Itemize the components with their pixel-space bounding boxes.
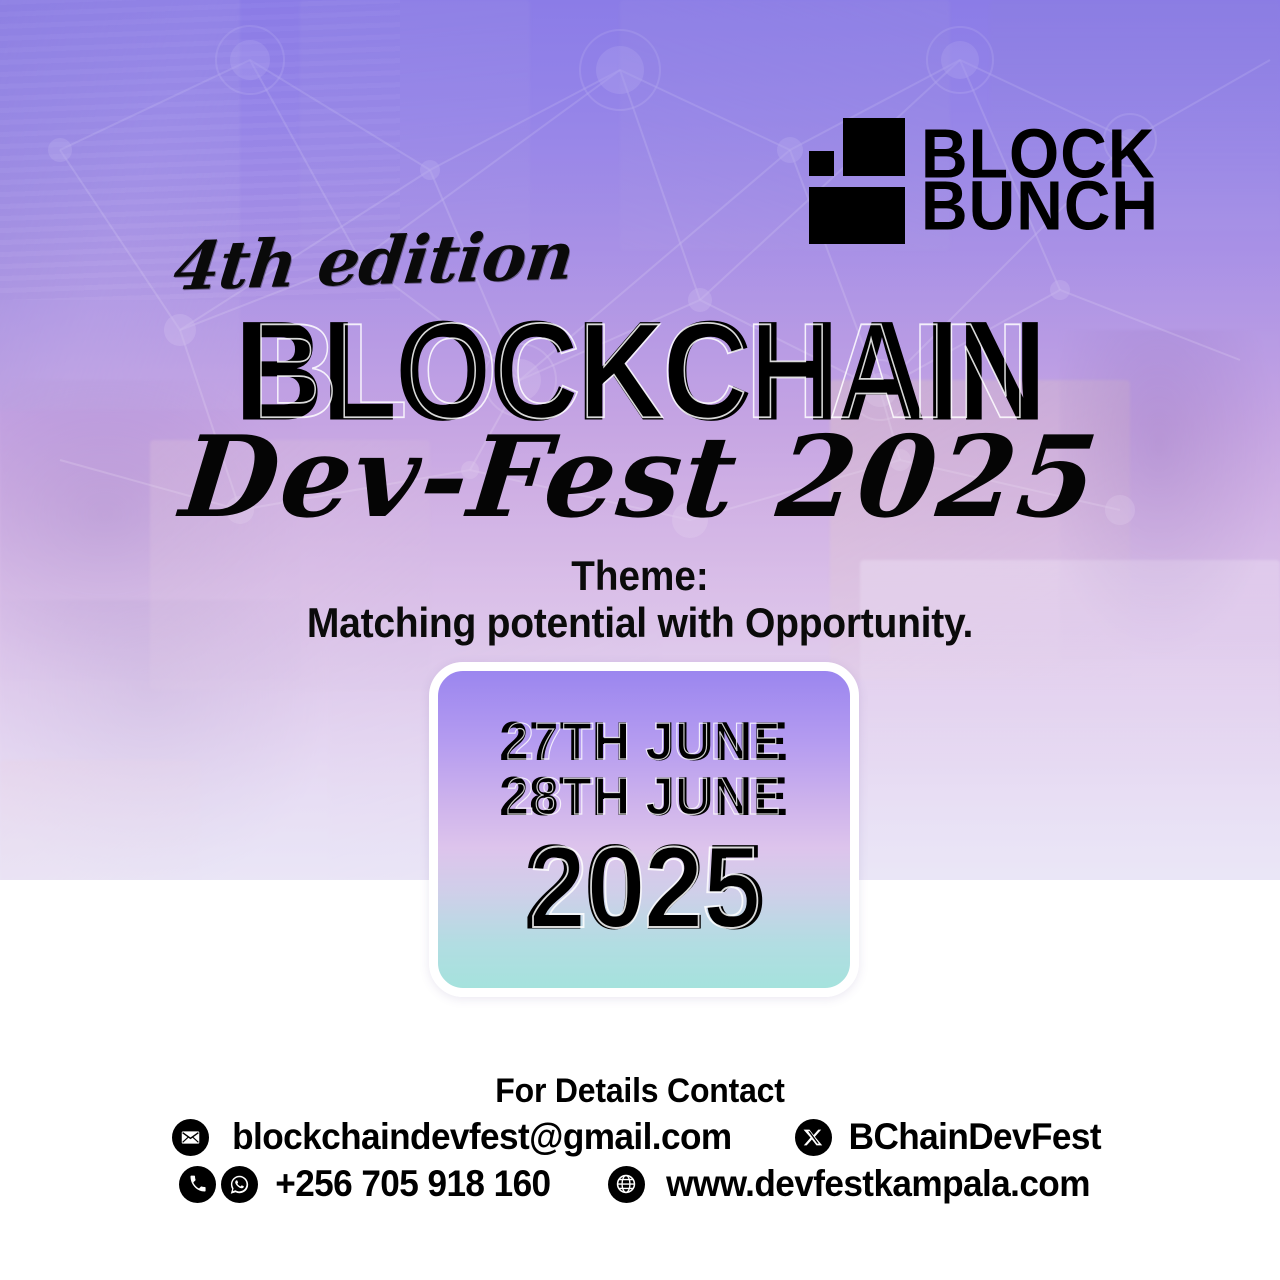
event-date-card: 27TH JUNE 28TH JUNE 2025 (429, 662, 859, 997)
theme-block: Theme: Matching potential with Opportuni… (0, 552, 1280, 647)
event-date-day-one: 27TH JUNE (499, 714, 788, 772)
event-subtitle: Dev-Fest 2025 (0, 422, 1280, 534)
theme-text: Matching potential with Opportunity. (45, 599, 1235, 647)
contact-x-handle[interactable]: BChainDevFest (795, 1116, 1108, 1158)
contact-row-secondary: +256 705 918 160 www.devfestkampala.com (0, 1163, 1280, 1205)
whatsapp-icon (221, 1166, 258, 1203)
theme-label: Theme: (51, 552, 1229, 599)
event-date-day-two: 28TH JUNE (499, 769, 788, 827)
phone-icon (179, 1166, 216, 1203)
contact-phone-text: +256 705 918 160 (275, 1163, 550, 1205)
contact-heading: For Details Contact (38, 1072, 1241, 1111)
contact-email-text: blockchaindevfest@gmail.com (232, 1116, 731, 1158)
envelope-icon (172, 1119, 209, 1156)
block-bunch-logo: BLOCK BUNCH (809, 118, 1150, 244)
contact-website[interactable]: www.devfestkampala.com (608, 1163, 1101, 1205)
event-poster: BLOCK BUNCH 4th edition BLOCKCHAIN Dev-F… (0, 0, 1280, 1280)
logo-word-bunch: BUNCH (921, 178, 1159, 236)
contact-x-text: BChainDevFest (849, 1116, 1101, 1158)
contact-row-primary: blockchaindevfest@gmail.com BChainDevFes… (0, 1116, 1280, 1158)
contact-phone[interactable]: +256 705 918 160 (179, 1163, 558, 1205)
event-date-year: 2025 (524, 826, 765, 949)
contact-website-text: www.devfestkampala.com (666, 1163, 1090, 1205)
x-twitter-icon (795, 1119, 832, 1156)
contact-email[interactable]: blockchaindevfest@gmail.com (172, 1116, 745, 1158)
contact-section: For Details Contact blockchaindevfest@gm… (0, 1072, 1280, 1205)
globe-icon (608, 1166, 645, 1203)
logo-mark-icon (809, 118, 905, 244)
